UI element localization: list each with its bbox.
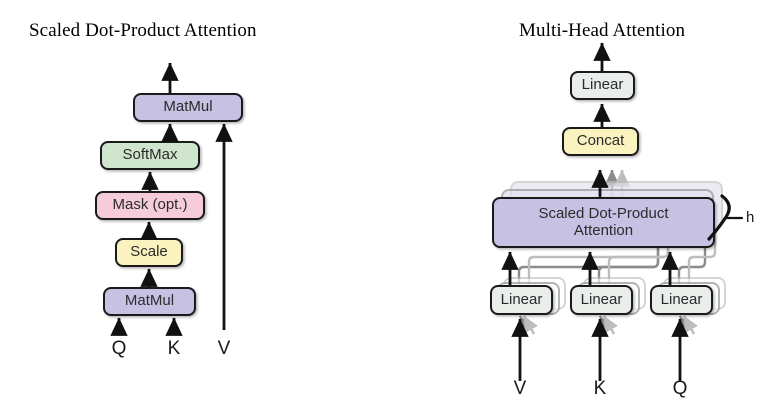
figure-canvas: Scaled Dot-Product Attention Multi-Head …: [0, 0, 779, 418]
io-label-k-left: K: [161, 338, 187, 360]
io-label-k-right: K: [587, 378, 613, 400]
io-label-v-right: V: [507, 378, 533, 400]
io-label-v-left: V: [211, 338, 237, 360]
io-label-q-right: Q: [667, 378, 693, 400]
heads-brace: [709, 196, 742, 239]
io-label-q-left: Q: [106, 338, 132, 360]
heads-count-label: h: [746, 209, 754, 226]
